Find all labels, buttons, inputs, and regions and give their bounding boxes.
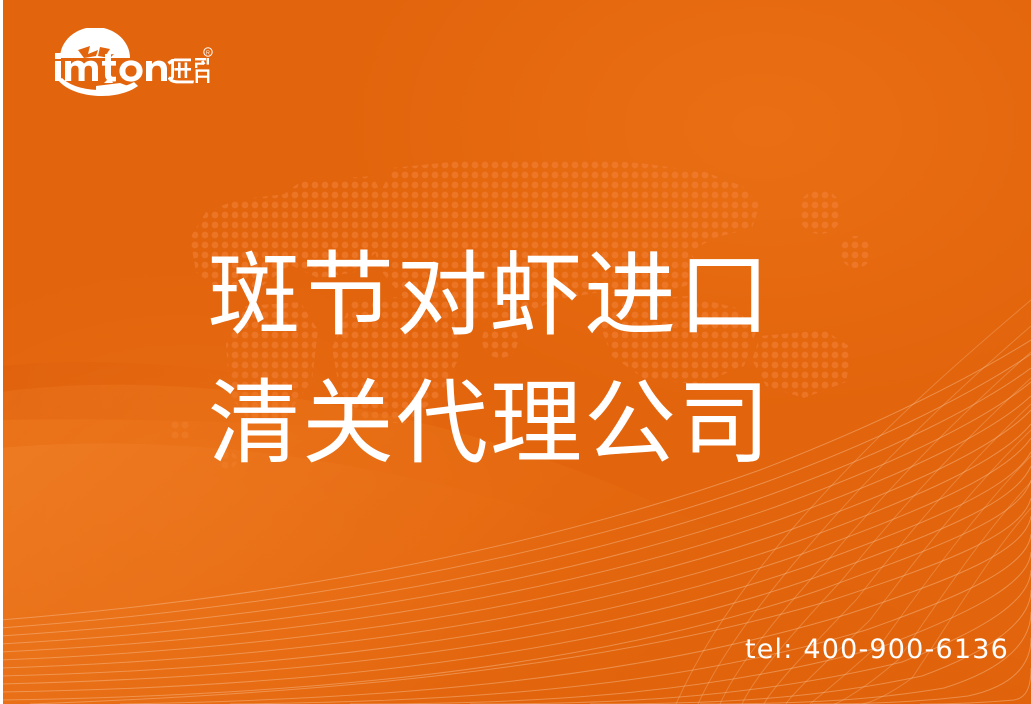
- headline: 斑节对虾进口 清关代理公司: [208, 232, 848, 488]
- promo-banner: R 斑节对虾进口 清关代理公司 tel: 400-900-6136: [0, 0, 1031, 704]
- headline-line-1: 斑节对虾进口: [208, 232, 848, 360]
- contact-phone[interactable]: tel: 400-900-6136: [745, 634, 1009, 665]
- brand-logo[interactable]: R: [38, 28, 213, 98]
- headline-line-2: 清关代理公司: [208, 360, 848, 488]
- svg-text:R: R: [206, 50, 210, 56]
- left-edge-border: [0, 0, 3, 704]
- globe-arc-logo-icon: R: [38, 28, 213, 98]
